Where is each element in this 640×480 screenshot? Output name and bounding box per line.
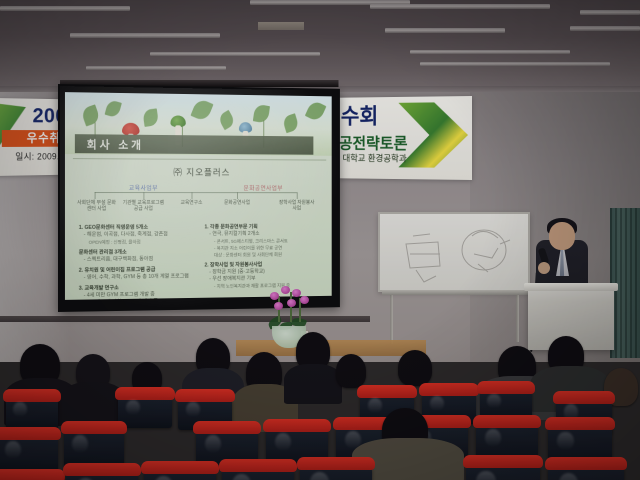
ceiling-vent [258,22,304,30]
auditorium-seat[interactable] [548,464,624,480]
ceiling-light [370,4,550,9]
slide-column-left: 1. GEO문화센터 직영운영 5개소- 해운점, 이곡점, 다사점, 죽계점,… [79,221,198,300]
leaf-icon [217,110,236,130]
ceiling-light [420,62,610,66]
whiteboard [378,212,530,292]
org-box: 기관별 교육프로그램 공급 사업 [122,200,165,212]
org-connector-line [95,192,297,193]
leaf-icon [190,98,213,123]
auditorium-seat[interactable] [66,470,138,480]
slide-list-subsub: OPEN예정 : 신평점, 율하점 [79,238,198,246]
orchid-flower [270,292,279,300]
banner-date-text: 일시: 2009. [15,150,59,163]
slide-list-subsub: - 지역 노인복지관과 재활 프로그램 지원 중 [205,282,319,290]
leaf-icon [105,99,122,118]
photo-scene: 200 우수취업 일시: 2009. 수회 공전략토론 대학교 환경공학과 [0,0,640,480]
auditorium-seat[interactable] [118,394,172,428]
banner-right-line3: 대학교 환경공학과 [343,151,407,164]
orchid-flower [300,296,309,304]
slide-body: ㈜ 지오플러스 교육사업부 문화공연사업부 사회단체 부설 문화센터 사업 기관… [73,158,326,296]
ceiling [0,0,640,92]
ceiling-light [150,52,320,56]
orchid-flower [274,302,283,310]
orchid-flower [281,286,290,294]
ceiling-light [570,26,640,31]
banner-right-line1: 수회 [341,99,378,130]
auditorium-seat[interactable] [0,476,62,480]
ceiling-light [580,10,640,15]
audience-head [336,354,366,388]
slide-column-right: 1. 각종 문화공연부문 기획- 연극, 뮤지컬기획 2개소- 콘서트, 5G페… [205,220,319,290]
presenter-hand [538,262,550,274]
whiteboard-marker-tray [382,290,528,295]
auditorium-seat[interactable] [144,468,216,480]
org-box: 문화공연사업 [216,200,257,206]
leaf-icon [253,104,270,124]
org-connector-tick [297,192,298,199]
org-connector-tick [192,192,193,199]
orchid-flower [287,299,296,307]
leaf-icon [282,113,300,133]
wall-rail [0,316,370,322]
banner-arrow-graphic [398,102,468,168]
event-banner-right: 수회 공전략토론 대학교 환경공학과 [337,96,472,180]
auditorium-seat[interactable] [466,462,540,480]
slide-company-name: ㈜ 지오플러스 [73,165,326,179]
slide-list-sub: - 스펙트리움, 대구백화점, 동아점 [79,256,198,264]
auditorium-seat[interactable] [0,434,58,474]
presenter-head [549,222,575,250]
org-connector-tick [95,192,96,199]
ceiling-light [70,33,220,38]
slide-list-subsub: 대상 : 문화센터 회원 및 사회단체 회원 [205,251,319,259]
ceiling-light [385,28,505,33]
org-header-right: 문화공연사업부 [218,183,308,192]
auditorium-seat[interactable] [222,466,294,480]
orchid-flower [292,289,301,297]
org-box: 교육연구소 [170,200,212,206]
auditorium-seat[interactable] [300,464,372,480]
slide-content: 회사 소개 ㈜ 지오플러스 교육사업부 문화공연사업부 사회단체 부설 문화센터… [65,92,332,300]
ceiling-light [410,50,570,54]
banner-right-line2: 공전략토론 [339,130,408,154]
slide-list-sub: - 영어, 수학, 과학, GYM 등 총 10개 계열 프로그램 [79,273,198,281]
org-box: 장학사업 자원봉사 사업 [276,200,317,212]
leaf-icon [305,99,327,123]
orchid-stem [290,292,292,322]
leaf-icon [142,108,159,127]
projection-screen: 회사 소개 ㈜ 지오플러스 교육사업부 문화공연사업부 사회단체 부설 문화센터… [58,84,340,312]
auditorium-seat[interactable] [6,396,58,430]
ceiling-light [0,6,130,11]
podium-top-surface [524,283,618,291]
whiteboard-sketch-icon [380,214,532,294]
slide-title-bar: 회사 소개 [75,134,313,155]
org-connector-tick [237,192,238,199]
org-box: 사회단체 부설 문화센터 사업 [75,200,118,212]
org-connector-tick [143,192,144,199]
audience-head [398,350,432,386]
audience-shoulders [284,364,342,404]
slide-title-text: 회사 소개 [87,136,144,152]
leaf-icon [80,104,101,126]
ceiling-light [86,66,226,70]
audience-seating [0,330,640,480]
org-header-left: 교육사업부 [102,183,183,192]
auditorium-seat[interactable] [64,428,124,468]
